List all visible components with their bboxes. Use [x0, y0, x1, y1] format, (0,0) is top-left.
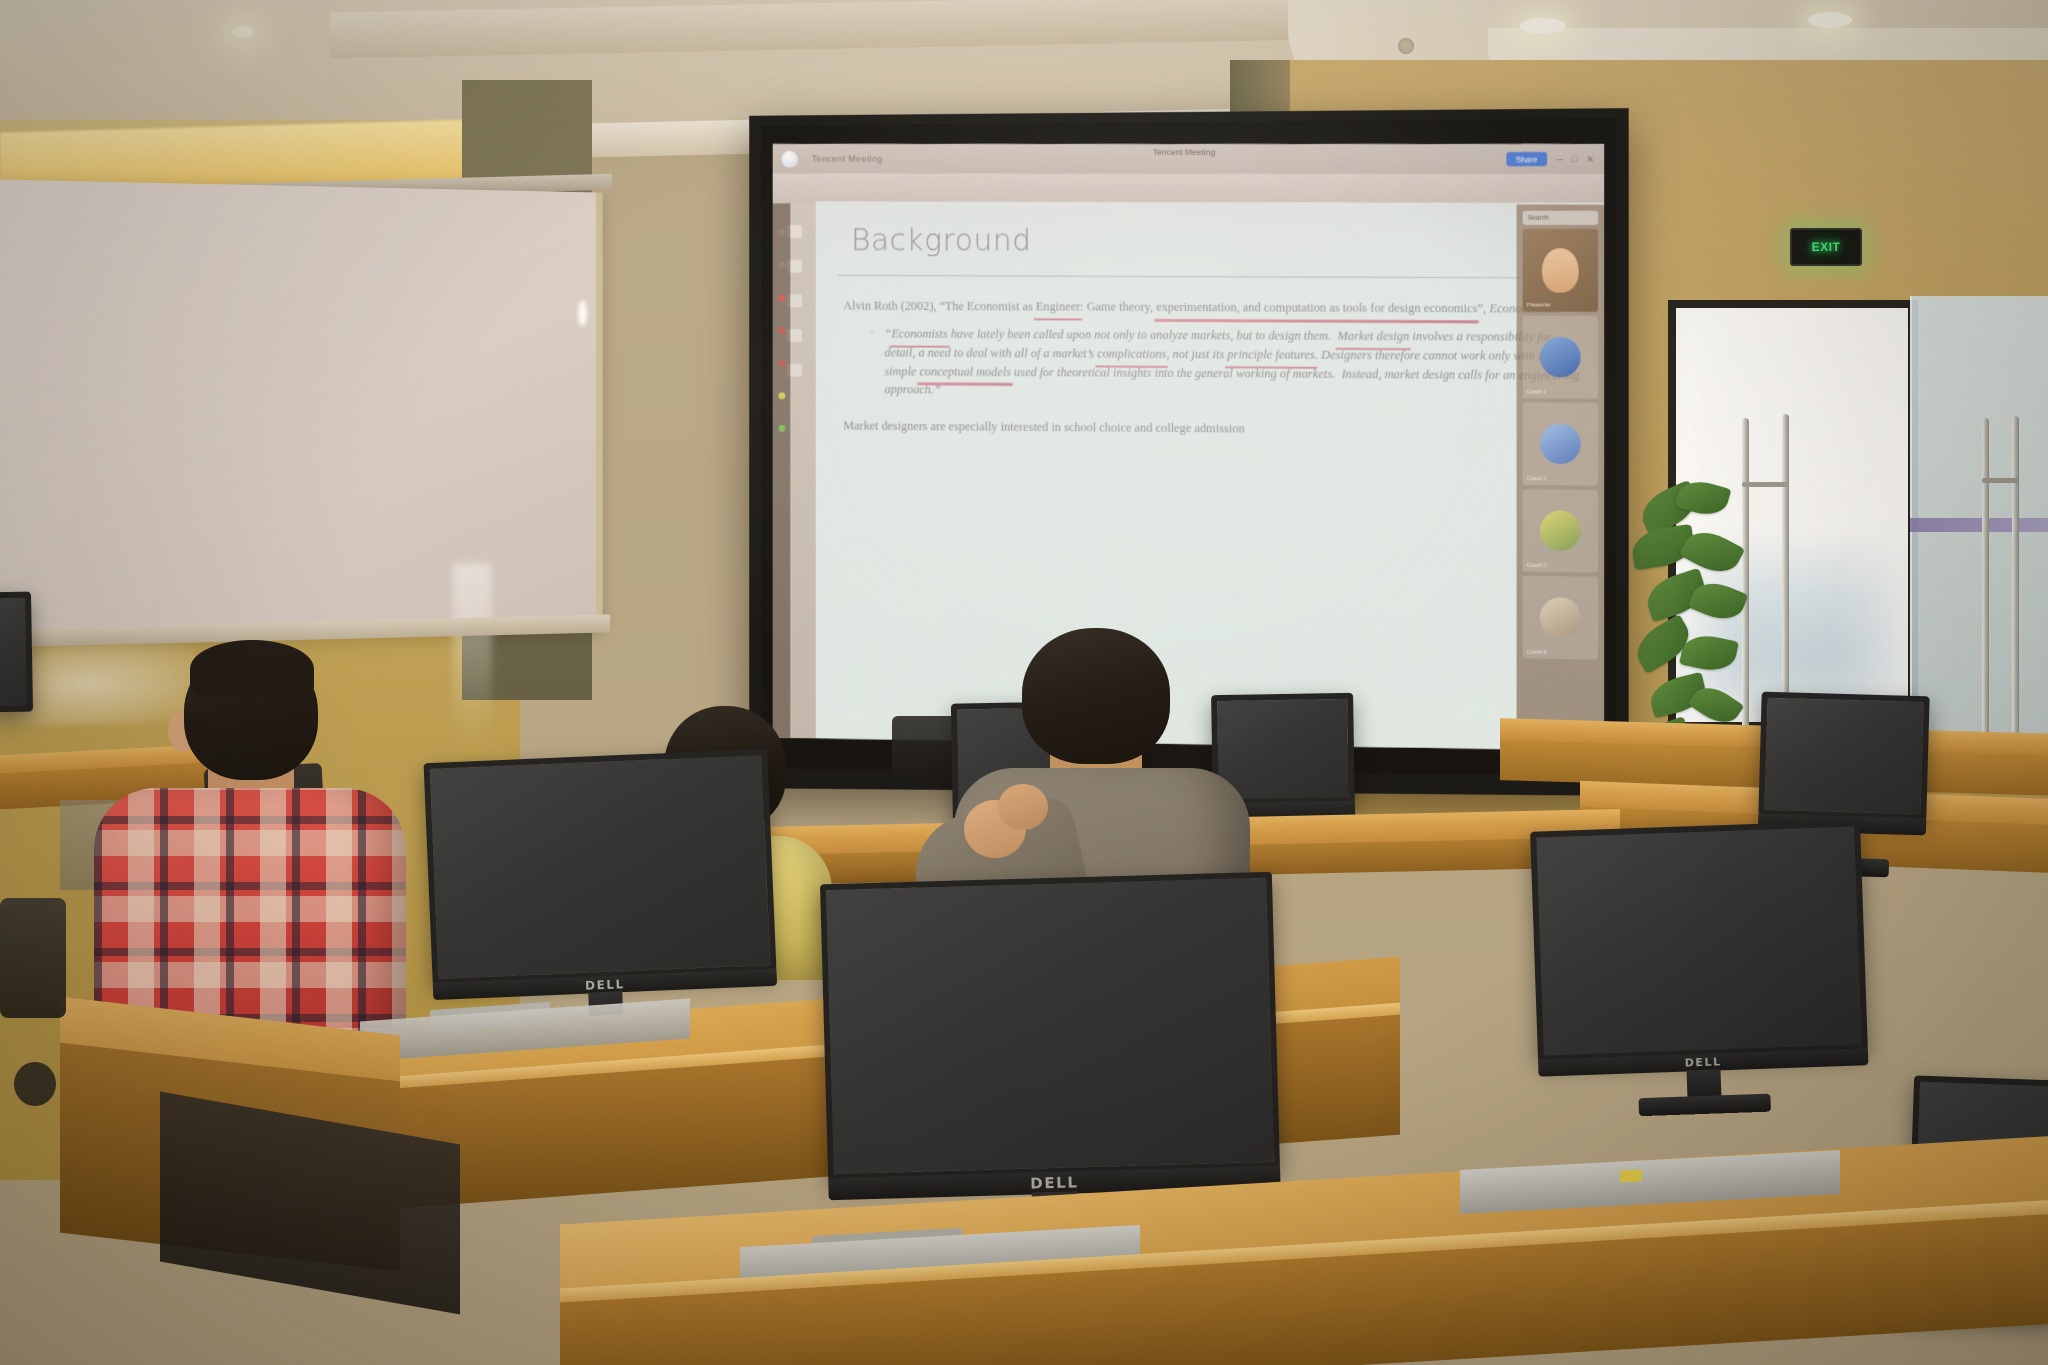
hair [190, 640, 314, 698]
head [1022, 628, 1170, 764]
door-handle-bar [1982, 478, 2018, 483]
monitor-base [1638, 1094, 1771, 1117]
door-handle[interactable] [1982, 418, 1989, 748]
record-icon[interactable] [778, 294, 785, 301]
meeting-title-label: Tencent Meeting [1153, 147, 1215, 157]
classroom-scene: EXIT Tencent Meeting Tencent Meeting [0, 0, 2048, 1365]
chair-base[interactable] [0, 898, 66, 1018]
hand-icon[interactable] [778, 392, 785, 399]
avatar [1540, 337, 1581, 378]
participant-tile[interactable]: Guest 1 [1523, 316, 1598, 399]
monitor[interactable]: DELL [820, 872, 1280, 1181]
meeting-tool-rail[interactable] [773, 203, 791, 738]
avatar [1540, 510, 1581, 551]
slide-title: Background [851, 223, 1032, 258]
slide-title-rule [837, 275, 1581, 279]
slide-quote: ○ “Economists have lately been called up… [885, 324, 1584, 403]
ceiling-downlight-icon [1520, 18, 1566, 34]
participant-tile[interactable]: Guest 4 [1523, 576, 1598, 660]
glass-safety-band [1910, 518, 2048, 532]
participant-video-face [1542, 248, 1579, 293]
avatar [1540, 597, 1581, 638]
chat-icon[interactable] [778, 360, 785, 367]
mic-icon[interactable] [778, 229, 785, 236]
minimize-icon[interactable]: ─ [1556, 154, 1563, 164]
participant-tile[interactable]: Guest 2 [1523, 402, 1598, 485]
exit-sign: EXIT [1790, 228, 1862, 266]
participant-name: Guest 3 [1527, 563, 1547, 569]
monitor[interactable] [0, 592, 33, 713]
monitor-screen [424, 749, 777, 985]
whiteboard-smudge [453, 563, 492, 741]
dell-logo: DELL [1684, 1055, 1722, 1069]
smoke-detector-icon [1398, 38, 1414, 54]
participant-name: Presenter [1527, 302, 1551, 308]
monitor-screen [820, 872, 1280, 1181]
maximize-icon[interactable]: □ [1572, 154, 1578, 164]
slide-paragraph: Alvin Roth (2002), “The Economist as Eng… [843, 297, 1584, 319]
exit-sign-label: EXIT [1812, 240, 1841, 254]
chair-wheel [14, 1062, 56, 1106]
app-ribbon [773, 174, 1604, 205]
dell-logo: DELL [1030, 1173, 1079, 1192]
share-icon[interactable] [778, 327, 785, 334]
titlebar-controls: Share ─ □ ✕ [1507, 152, 1594, 166]
slide-closing-line: Market designers are especially interest… [843, 417, 1584, 441]
monitor[interactable]: DELL [424, 749, 777, 985]
camera-icon[interactable] [778, 262, 785, 269]
participant-tile[interactable]: Presenter [1523, 229, 1598, 312]
monitor-screen [1758, 692, 1929, 821]
participant-tile[interactable]: Guest 3 [1523, 489, 1598, 573]
ceiling-downlight-icon [1808, 12, 1852, 28]
participant-name: Guest 1 [1527, 389, 1547, 395]
meeting-app-logo-icon [781, 150, 798, 167]
monitor-screen [0, 592, 33, 713]
door-handle[interactable] [1782, 414, 1789, 738]
whiteboard-glare [578, 300, 587, 326]
monitor[interactable] [1758, 692, 1929, 821]
share-button[interactable]: Share [1507, 152, 1547, 166]
whiteboard [0, 179, 603, 643]
monitor-screen [1530, 820, 1868, 1061]
avatar [1540, 424, 1581, 465]
participant-name: Guest 2 [1527, 476, 1547, 482]
app-name-label: Tencent Meeting [812, 154, 883, 164]
desk-label-sticker [1620, 1169, 1642, 1182]
app-titlebar: Tencent Meeting Tencent Meeting Share ─ … [773, 144, 1604, 174]
slide-body: Alvin Roth (2002), “The Economist as Eng… [843, 297, 1584, 451]
door-handle[interactable] [2012, 416, 2019, 748]
close-icon[interactable]: ✕ [1586, 154, 1594, 165]
more-icon[interactable] [778, 425, 785, 432]
participants-panel: Search Presenter Guest 1 Guest 2 Guest 3 [1517, 205, 1605, 751]
monitor[interactable]: DELL [1530, 820, 1868, 1061]
ceiling-downlight-icon [232, 26, 254, 38]
dell-logo: DELL [585, 977, 625, 993]
participant-name: Guest 4 [1527, 649, 1547, 655]
participant-search-input[interactable]: Search [1523, 211, 1598, 225]
hand [998, 784, 1048, 830]
bullet-icon: ○ [870, 325, 875, 337]
